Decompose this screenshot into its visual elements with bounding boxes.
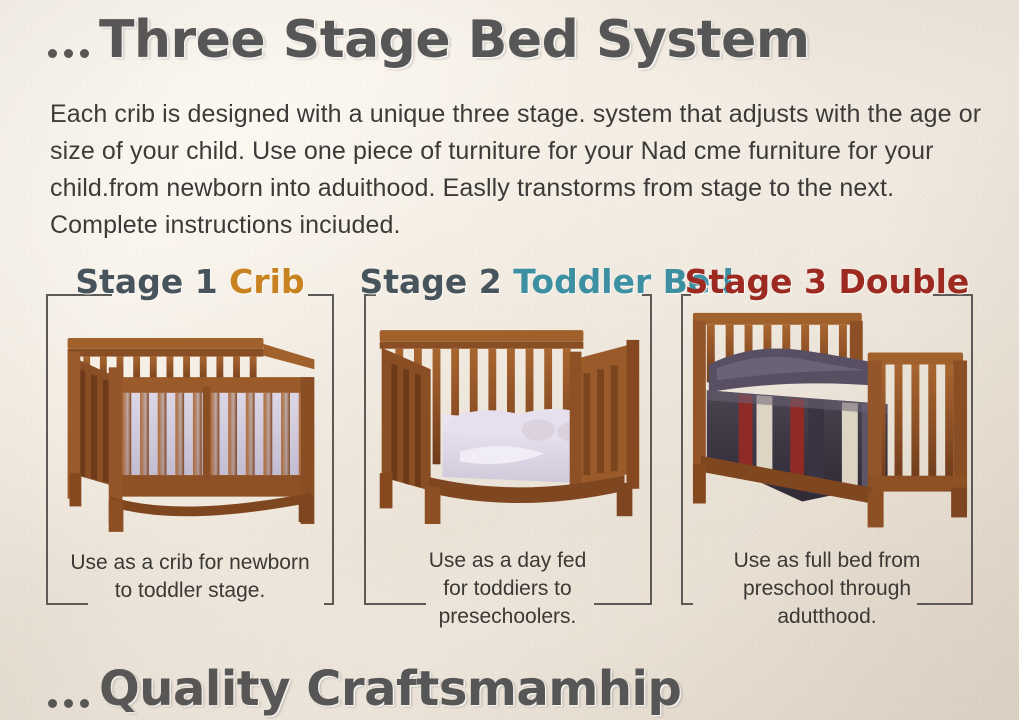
stage-caption-3: Use as full bed from preschool through a…: [671, 547, 983, 631]
headline-text: Three Stage Bed System: [99, 14, 810, 66]
stage-panel-3: Stage 3 Double: [677, 262, 977, 657]
caption-line: to toddler stage.: [36, 577, 344, 605]
caption-line: Use as a day fed: [354, 547, 662, 575]
stage-panel-1: Stage 1 Crib: [42, 262, 338, 657]
stage-kind-label: Crib: [229, 262, 304, 301]
footer-headline-text: Quality Craftsmamhip: [99, 664, 681, 716]
stage-title-3: Stage 3 Double: [677, 262, 977, 302]
caption-line: for toddiers to: [354, 575, 662, 603]
stage-number-label: Stage 1: [75, 262, 217, 301]
intro-line: Each crib is designed with a unique thre…: [50, 96, 980, 133]
stage-number-label: Stage 2: [360, 262, 502, 301]
three-dots-icon: [48, 699, 89, 708]
intro-line: size of your child. Use one piece of tur…: [50, 133, 980, 170]
stage-title-2: Stage 2 Toddler Bed: [360, 262, 656, 302]
stage-panels: Stage 1 Crib: [0, 262, 1019, 657]
double-bed-photo: [683, 306, 971, 556]
three-dots-icon: [48, 49, 89, 58]
toddler-bed-photo: [366, 306, 650, 556]
stage-title-1: Stage 1 Crib: [42, 262, 338, 302]
caption-line: preschool through: [671, 575, 983, 603]
intro-line: child.from newborn into aduithood. Easll…: [50, 170, 980, 207]
infographic-poster: Three Stage Bed System Each crib is desi…: [0, 0, 1019, 720]
stage-caption-2: Use as a day fed for toddiers to presech…: [354, 547, 662, 631]
stage-number-label: Stage 3: [685, 262, 827, 301]
caption-line: presechoolers.: [354, 603, 662, 631]
intro-paragraph: Each crib is designed with a unique thre…: [50, 96, 980, 244]
crib-photo: [48, 306, 332, 556]
stage-caption-1: Use as a crib for newborn to toddler sta…: [36, 549, 344, 605]
headline: Three Stage Bed System: [48, 14, 810, 66]
caption-line: Use as full bed from: [671, 547, 983, 575]
caption-line: Use as a crib for newborn: [36, 549, 344, 577]
intro-line: Complete instructions inciuded.: [50, 207, 980, 244]
caption-line: adutthood.: [671, 603, 983, 631]
stage-panel-2: Stage 2 Toddler Bed: [360, 262, 656, 657]
footer-headline: Quality Craftsmamhip: [48, 664, 681, 716]
stage-kind-label: Double: [838, 262, 969, 301]
